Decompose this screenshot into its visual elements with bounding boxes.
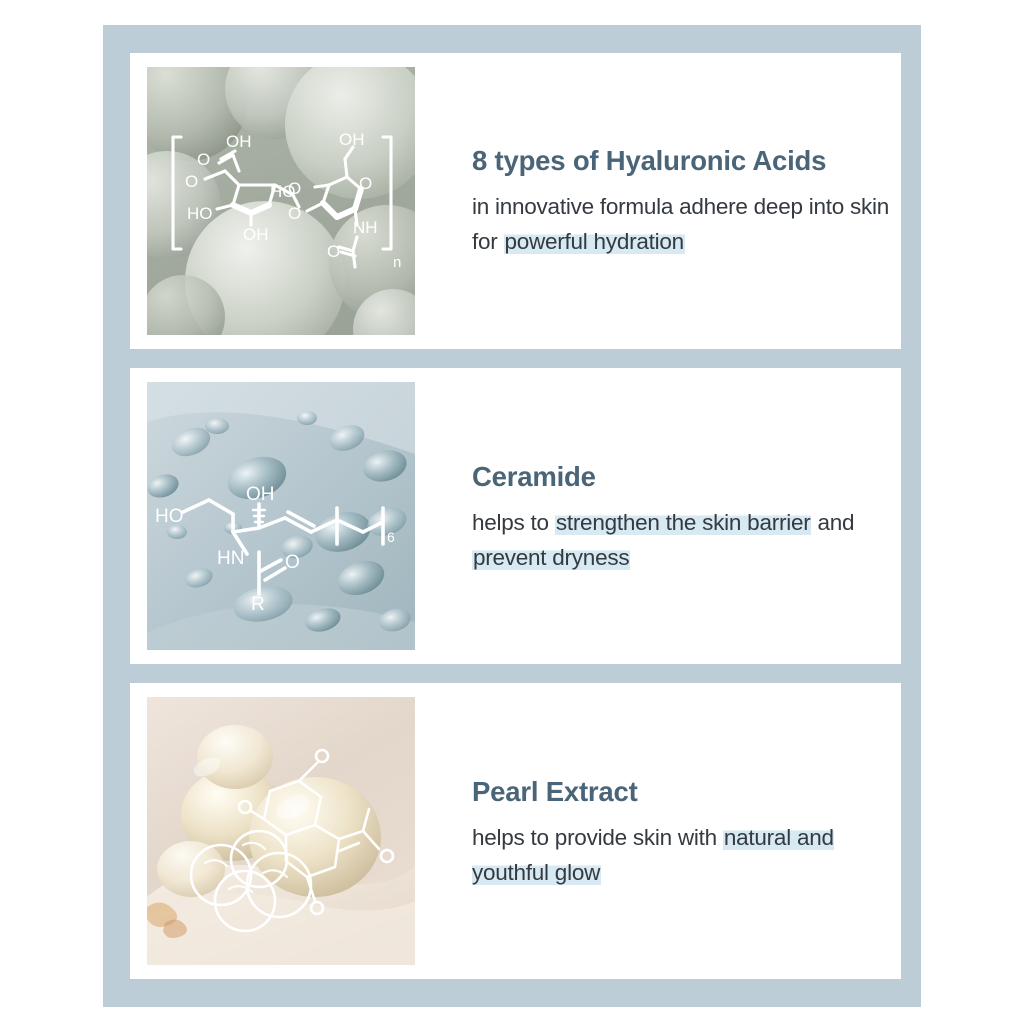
ingredient-description: helps to provide skin with natural and y… (472, 820, 891, 891)
svg-text:NH: NH (353, 218, 378, 237)
infographic-root: OH O O HO OH O O HO OH O NH O n (0, 0, 1024, 1024)
desc-part-plain: helps to (472, 510, 555, 535)
desc-part-highlighted-2: prevent dryness (472, 545, 630, 570)
svg-text:OH: OH (339, 130, 365, 149)
svg-text:O: O (285, 552, 300, 573)
svg-text:HO: HO (270, 182, 296, 201)
ingredient-description: in innovative formula adhere deep into s… (472, 189, 891, 260)
svg-text:O: O (327, 242, 340, 261)
ingredient-title: Ceramide (472, 462, 891, 492)
svg-text:O: O (185, 172, 198, 191)
ingredient-card-ceramide[interactable]: HO OH HN O R 6 Ceramide helps to strengt… (130, 368, 901, 664)
ingredient-title: Pearl Extract (472, 777, 891, 807)
svg-text:HO: HO (187, 204, 213, 223)
desc-part-highlighted: strengthen the skin barrier (555, 510, 812, 535)
card-text-block: Ceramide helps to strengthen the skin ba… (415, 368, 901, 664)
svg-text:HN: HN (217, 548, 244, 569)
svg-text:OH: OH (226, 132, 252, 151)
svg-text:OH: OH (243, 225, 269, 244)
svg-text:R: R (251, 594, 265, 615)
ceramide-photo: HO OH HN O R 6 (147, 382, 415, 650)
svg-text:HO: HO (155, 506, 184, 527)
ingredient-card-pearl-extract[interactable]: Pearl Extract helps to provide skin with… (130, 683, 901, 979)
svg-text:O: O (288, 204, 301, 223)
svg-text:O: O (359, 174, 372, 193)
card-text-block: 8 types of Hyaluronic Acids in innovativ… (415, 53, 901, 349)
ingredient-title: 8 types of Hyaluronic Acids (472, 146, 891, 176)
svg-text:OH: OH (246, 484, 275, 505)
svg-text:n: n (393, 254, 401, 271)
ingredient-description: helps to strengthen the skin barrier and… (472, 505, 891, 576)
card-text-block: Pearl Extract helps to provide skin with… (415, 683, 901, 979)
desc-part-plain: helps to provide skin with (472, 825, 723, 850)
hyaluronic-acid-photo: OH O O HO OH O O HO OH O NH O n (147, 67, 415, 335)
svg-text:6: 6 (387, 529, 395, 545)
desc-part-highlighted: powerful hydration (504, 229, 685, 254)
ingredient-card-hyaluronic-acid[interactable]: OH O O HO OH O O HO OH O NH O n (130, 53, 901, 349)
desc-part-plain-2: and (811, 510, 854, 535)
pearl-extract-photo (147, 697, 415, 965)
svg-text:O: O (197, 150, 210, 169)
ingredient-card-list: OH O O HO OH O O HO OH O NH O n (130, 53, 901, 979)
